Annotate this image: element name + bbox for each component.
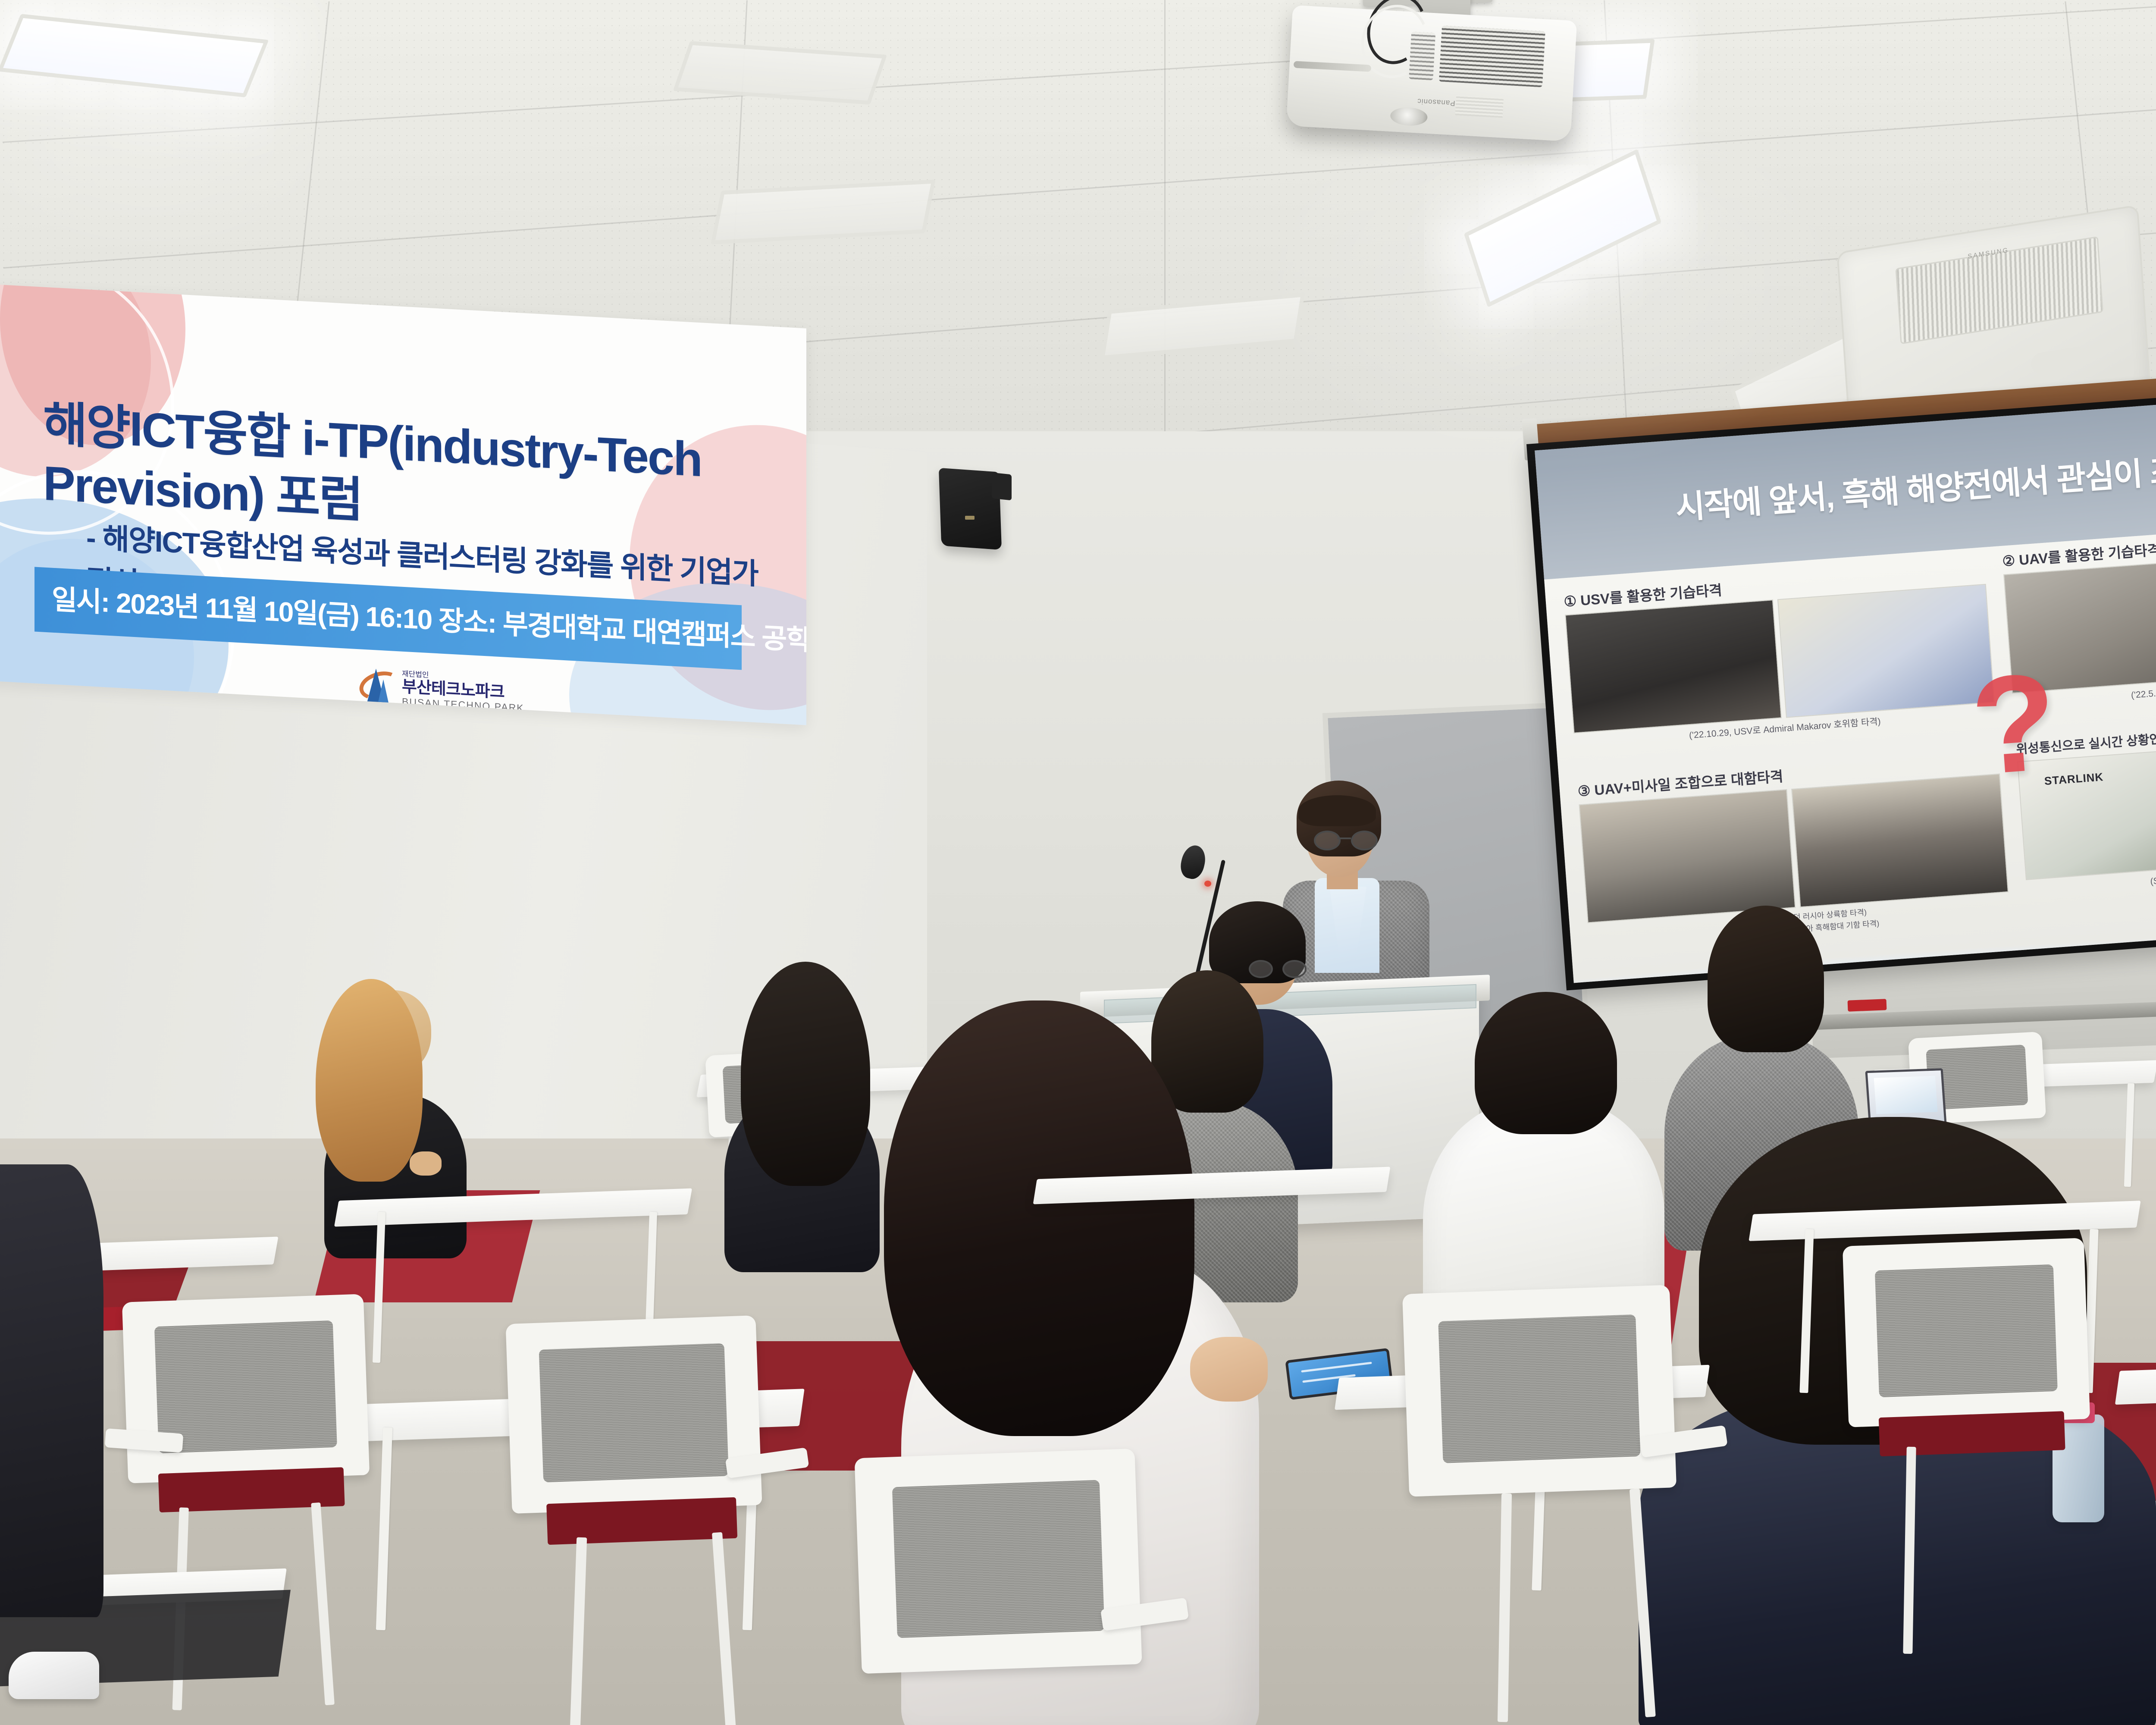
chair-mesh-panel	[1438, 1314, 1641, 1463]
projector-vent	[1439, 25, 1545, 87]
projector-brand-label: Panasonic	[1417, 97, 1455, 107]
microphone-led-indicator	[1204, 881, 1211, 887]
chair	[854, 1449, 1142, 1674]
chair-seat	[546, 1497, 737, 1545]
projection-screen-surface: 시작에 앞서, 흑해 해양전에서 관심이 조명된 전훈 ① USV를 활용한 기…	[1535, 385, 2156, 983]
glasses-lens-left	[1314, 831, 1341, 850]
slide-title: 시작에 앞서, 흑해 해양전에서 관심이 조명된 전훈	[1674, 436, 2156, 528]
glasses-lens-right	[1351, 831, 1378, 850]
projector-body: Panasonic	[1286, 5, 1577, 141]
chair-mesh-panel	[892, 1480, 1104, 1638]
night-attack-photo	[1565, 599, 1782, 734]
shoe	[9, 1652, 99, 1699]
phone-screen-line	[1301, 1361, 1372, 1372]
speaker-bracket	[992, 473, 1012, 501]
slide-quadrant-1: ① USV를 활용한 기습타격 ('22.10.29, USV로 Admiral…	[1563, 559, 1998, 776]
person-hand	[410, 1151, 442, 1176]
chair	[505, 1315, 762, 1514]
projector-sticker	[1455, 95, 1504, 118]
chair-mesh-panel	[1875, 1264, 2058, 1397]
chair	[1402, 1285, 1677, 1496]
chair-mesh-panel	[539, 1343, 729, 1482]
presenter-hair-front	[1298, 795, 1376, 826]
chair-mesh-panel	[154, 1320, 337, 1453]
speaker-badge-icon	[965, 516, 975, 520]
audience-member-partial-left	[0, 1164, 112, 1639]
person-hair	[316, 979, 423, 1182]
eyeglasses-icon	[1314, 831, 1374, 848]
person-hair	[884, 1000, 1194, 1436]
person-hair	[1475, 992, 1617, 1134]
projection-screen: 시작에 앞서, 흑해 해양전에서 관심이 조명된 전훈 ① USV를 활용한 기…	[1526, 377, 2156, 991]
chair	[1843, 1238, 2090, 1427]
person-body	[0, 1164, 103, 1617]
burning-ship-photo	[1579, 789, 1796, 923]
ac-louver	[2031, 345, 2087, 375]
event-banner: 해양ICT융합 i-TP(industry-Tech Prevision) 포럼…	[0, 284, 806, 725]
person-hand	[1190, 1337, 1268, 1402]
chair	[122, 1294, 370, 1483]
ceiling-projector: Panasonic	[1276, 0, 1595, 147]
lecture-room-photo: SAMSUNG Panasonic	[0, 0, 2156, 1725]
laptop-screen	[1874, 1076, 1938, 1114]
person-hair	[741, 962, 870, 1186]
btp-logo-icon	[358, 667, 396, 707]
glasses-bridge	[1337, 837, 1351, 839]
projector-lens	[1390, 107, 1428, 127]
logo-triangle-inner	[378, 679, 389, 705]
person-hair	[1708, 906, 1824, 1052]
